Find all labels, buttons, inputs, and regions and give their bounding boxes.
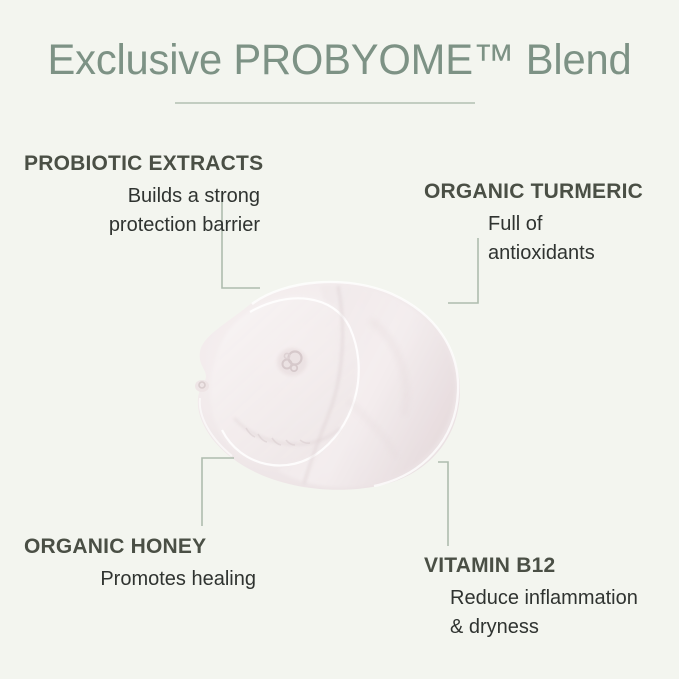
callout-b12-description: Reduce inflammation & dryness — [424, 584, 676, 642]
callout-probiotic-description: Builds a strong protection barrier — [24, 182, 294, 240]
title-divider — [175, 102, 475, 104]
callout-honey-title: ORGANIC HONEY — [24, 535, 284, 559]
pad-left-tab — [195, 380, 209, 392]
callout-probiotic-description-line-2: protection barrier — [24, 211, 260, 240]
callout-b12-description-line-2: & dryness — [450, 613, 676, 642]
callout-honey: ORGANIC HONEY Promotes healing — [24, 535, 284, 594]
callout-turmeric-description-line-2: antioxidants — [488, 239, 674, 268]
callout-honey-description: Promotes healing — [24, 565, 284, 594]
product-benefits-infographic: Exclusive PROBYOME™ Blend — [0, 0, 679, 679]
callout-turmeric-description: Full of antioxidants — [424, 210, 674, 268]
callout-turmeric-title: ORGANIC TURMERIC — [424, 180, 674, 204]
pad-center-knot — [277, 348, 307, 376]
callout-probiotic: PROBIOTIC EXTRACTS Builds a strong prote… — [24, 152, 294, 240]
callout-b12-title: VITAMIN B12 — [424, 554, 676, 578]
callout-honey-description-line-1: Promotes healing — [24, 565, 256, 594]
callout-b12-description-line-1: Reduce inflammation — [450, 584, 676, 613]
callout-turmeric-description-line-1: Full of — [488, 210, 674, 239]
callout-turmeric: ORGANIC TURMERIC Full of antioxidants — [424, 180, 674, 268]
connector-honey — [198, 458, 238, 530]
page-title: Exclusive PROBYOME™ Blend — [10, 36, 669, 85]
connector-b12 — [438, 460, 464, 548]
callout-probiotic-title: PROBIOTIC EXTRACTS — [24, 152, 294, 176]
callout-probiotic-description-line-1: Builds a strong — [24, 182, 260, 211]
callout-b12: VITAMIN B12 Reduce inflammation & drynes… — [424, 554, 676, 642]
